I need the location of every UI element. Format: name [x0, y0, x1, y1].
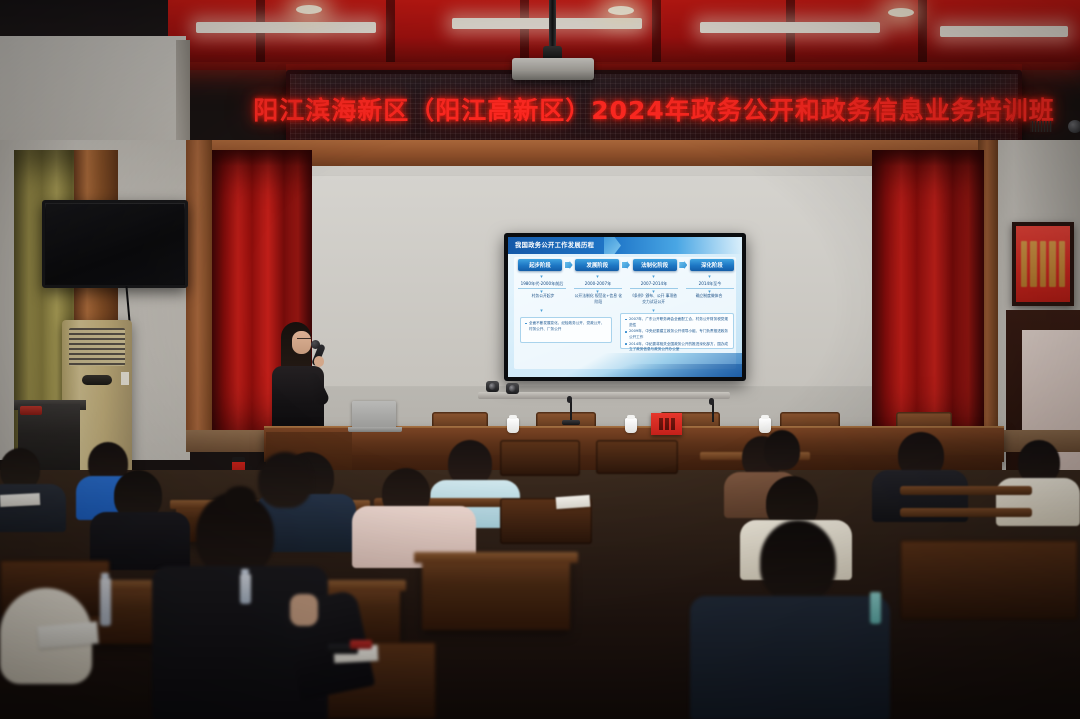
ceiling-slat	[652, 0, 661, 62]
attendee-head	[764, 430, 800, 470]
slide-period-1: 1980年代-2000年前后	[518, 281, 566, 289]
slide-stage-1: 起步阶段	[518, 259, 562, 271]
arrow-right-icon	[565, 261, 573, 269]
arrow-right-icon	[679, 261, 687, 269]
ceiling-downlight	[296, 5, 322, 14]
chevron-down-icon: ▾	[595, 275, 600, 280]
red-folder-on-lectern	[20, 406, 42, 415]
attendee-head	[760, 520, 836, 602]
presenter-hand	[314, 356, 324, 367]
ac-label-tag	[121, 372, 129, 385]
slide-right-bullet-2: 2009年，中央纪委建立政务公开领导小组、专门负责推进政务公开工作	[625, 329, 729, 340]
slide-stage-3: 法制化阶段	[633, 259, 677, 271]
ceiling-slat	[918, 0, 927, 62]
desk-microphone-stand	[570, 400, 572, 422]
led-banner-display: 阳江滨海新区（阳江高新区）2024年政务公开和政务信息业务培训班	[286, 70, 1022, 148]
desk-microphone-head-icon	[709, 398, 714, 405]
conference-camera-icon	[506, 383, 519, 394]
desk-microphone-head-icon	[567, 396, 572, 403]
slide-desc-2: 公开法制化 规范化+信息 化阶段	[573, 293, 623, 304]
ceiling-downlight	[888, 8, 914, 17]
wall-plaque	[1016, 226, 1070, 302]
ac-vent-grill-icon	[69, 328, 125, 366]
attendee-hair-bun	[224, 486, 256, 510]
slide-title: 我国政务公开工作发展历程	[515, 240, 594, 249]
placard-character	[671, 418, 675, 430]
stage-curtain-right	[872, 150, 984, 450]
handout-paper	[556, 495, 591, 509]
desk-microphone-stand	[712, 402, 714, 422]
attendee-head	[258, 452, 312, 508]
ceiling-slat	[386, 0, 395, 62]
microphone-head-icon	[311, 340, 320, 349]
water-bottle	[100, 578, 111, 626]
chevron-down-icon: ▾	[539, 275, 544, 280]
ceiling-soffit	[0, 36, 186, 148]
chevron-down-icon: ▾	[651, 275, 656, 280]
slide-period-4: 2014年至今	[686, 281, 734, 289]
soffit-edge	[176, 40, 190, 150]
slide-right-bullet-box: 2007年，广东公开职务两会全面配工合，村务公开财务税党规范性 2009年，中央…	[620, 313, 734, 349]
ceiling-light-strip	[196, 22, 376, 33]
name-placard	[651, 413, 682, 435]
tea-cup	[507, 418, 519, 433]
bottle-cap	[241, 569, 249, 574]
conference-camera-icon	[486, 381, 499, 392]
placard-character	[665, 418, 669, 430]
led-banner-text: 阳江滨海新区（阳江高新区）2024年政务公开和政务信息业务培训班	[290, 74, 1018, 144]
placard-character	[659, 418, 663, 430]
ceiling-light-strip	[452, 18, 642, 29]
attendee-torso	[0, 484, 66, 532]
bench	[500, 440, 580, 476]
projector-mount-pole	[549, 0, 556, 52]
tv-screen	[46, 204, 184, 284]
slide-stage-4: 深化阶段	[690, 259, 734, 271]
slide-period-2: 2000-2007年	[574, 281, 622, 289]
bench-rail	[900, 508, 1032, 517]
presenter-glasses	[297, 338, 311, 343]
handout-paper	[0, 493, 40, 507]
tea-cup	[625, 418, 637, 433]
calligraphy-stroke	[1049, 241, 1055, 287]
ceiling-projector	[512, 58, 594, 80]
slide-desc-3: 《条例》颁布、公开 事项依交力试证公开	[629, 293, 679, 304]
laptop-screen	[352, 401, 396, 428]
ceiling-light-strip	[940, 26, 1068, 37]
slide-desc-4: 确立制度做体合	[684, 293, 734, 304]
slide-right-bullet-3: 2014年，中纪委将相关全国政务公开的推进深化部方，国办成立了政务信息与政务公开…	[625, 342, 729, 353]
slide-stage-2: 发展阶段	[575, 259, 619, 271]
bench	[596, 440, 678, 474]
slide-desc-1: 村务公开起步	[518, 293, 568, 304]
presentation-slide: 我国政务公开工作发展历程 起步阶段 发展阶段 法制化阶段 深化阶段 ▾ ▾ ▾ …	[508, 237, 742, 377]
wood-pilaster-left	[186, 140, 212, 440]
attendee-torso	[690, 596, 890, 719]
curtain-top-shadow	[212, 150, 312, 166]
attendee-hand	[290, 594, 318, 626]
desk-microphone-base	[562, 420, 580, 425]
chevron-down-icon: ▾	[707, 275, 712, 280]
projector-lens-icon	[1068, 120, 1080, 133]
ceiling-light-strip	[700, 22, 880, 33]
ac-control-panel	[82, 375, 112, 385]
slide-left-bullet-box: 全面不断发展变化、纪检政务公开、党政公开、村务公开、厂务公开	[520, 317, 612, 343]
arrow-right-icon	[622, 261, 630, 269]
tea-cup	[759, 418, 771, 433]
chevron-down-icon: ▾	[539, 309, 544, 314]
slide-right-bullet-1: 2007年，广东公开职务两会全面配工合，村务公开财务税党规范性	[625, 317, 729, 328]
slide-period-3: 2007-2014年	[630, 281, 678, 289]
curtain-top-shadow	[872, 150, 984, 166]
slide-stage-row: 起步阶段 发展阶段 法制化阶段 深化阶段	[518, 259, 734, 271]
desk-top	[414, 552, 578, 563]
phone-case	[350, 640, 372, 649]
projector-vent-icon	[1030, 121, 1052, 132]
bench	[900, 540, 1078, 620]
slide-left-bullet-1: 全面不断发展变化、纪检政务公开、党政公开、村务公开、厂务公开	[525, 321, 607, 332]
calligraphy-stroke	[1030, 241, 1036, 287]
photo-scene: 阳江滨海新区（阳江高新区）2024年政务公开和政务信息业务培训班 我国政务公开工…	[0, 0, 1080, 719]
slide-wave-decor-2	[508, 364, 742, 377]
calligraphy-stroke	[1040, 241, 1046, 287]
calligraphy-stroke	[1059, 241, 1065, 287]
slide-date-row: 1980年代-2000年前后 2000-2007年 2007-2014年 201…	[518, 281, 734, 289]
calligraphy-stroke	[1021, 241, 1027, 287]
ceiling-downlight	[608, 6, 634, 15]
laptop-keyboard	[348, 427, 402, 432]
bench-rail	[900, 486, 1032, 495]
slide-desc-row: 村务公开起步 公开法制化 规范化+信息 化阶段 《条例》颁布、公开 事项依交力试…	[518, 293, 734, 304]
water-bottle	[240, 574, 251, 604]
desk	[422, 560, 570, 630]
water-bottle	[870, 592, 881, 624]
bottle-cap	[101, 573, 109, 578]
ceiling-slat	[520, 0, 529, 62]
